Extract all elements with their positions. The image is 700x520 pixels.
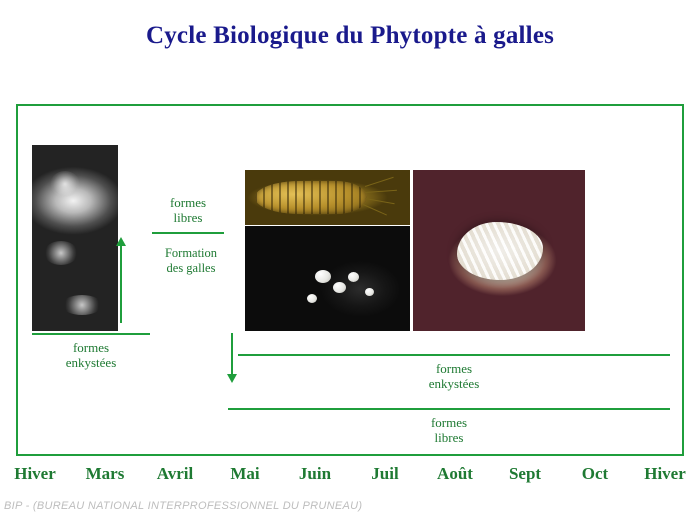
rule-formes-enkystees-right: [238, 354, 670, 356]
rule-formes-libres-top: [152, 232, 224, 234]
mite-body: [255, 181, 367, 214]
month-oct: Oct: [560, 464, 630, 484]
rule-formes-libres-bottom: [228, 408, 670, 410]
month-mai: Mai: [210, 464, 280, 484]
slide: Cycle Biologique du Phytopte à galles fo…: [0, 0, 700, 520]
rule-formes-enkystees-left: [32, 333, 150, 335]
month-juin: Juin: [280, 464, 350, 484]
footer-credit: BIP - (BUREAU NATIONAL INTERPROFESSIONNE…: [4, 500, 694, 512]
arrow-up-shaft: [120, 245, 122, 323]
mite-cluster: [307, 294, 317, 303]
page-title: Cycle Biologique du Phytopte à galles: [0, 22, 700, 50]
photo-gall-cross-section: [413, 170, 585, 331]
mite-cluster: [333, 282, 346, 293]
arrow-up-head: [116, 237, 126, 246]
photo-highlight: [50, 171, 80, 197]
month-aout: Août: [420, 464, 490, 484]
month-avril: Avril: [140, 464, 210, 484]
mite-leg: [365, 198, 395, 204]
month-juil: Juil: [350, 464, 420, 484]
photo-highlight: [44, 241, 78, 265]
mite-cluster: [315, 270, 331, 283]
month-hiver-start: Hiver: [0, 464, 70, 484]
label-formes-libres-top: formes libres: [150, 195, 226, 225]
month-sept: Sept: [490, 464, 560, 484]
mite-leg: [365, 177, 394, 187]
arrow-down-shaft: [231, 333, 233, 375]
photo-galls-with-mites: [245, 226, 410, 331]
month-mars: Mars: [70, 464, 140, 484]
mite-cluster: [348, 272, 359, 282]
arrow-down-head: [227, 374, 237, 383]
gall-interior: [457, 222, 543, 280]
mite-cluster: [365, 288, 374, 296]
timeline-months: Hiver Mars Avril Mai Juin Juil Août Sept…: [0, 464, 700, 484]
label-formes-libres-bottom: formes libres: [228, 415, 670, 445]
photo-highlight: [62, 295, 102, 315]
label-formes-enkystees-right: formes enkystées: [238, 361, 670, 391]
label-formes-enkystees-left: formes enkystées: [32, 340, 150, 370]
photo-bud-encysted-forms: [32, 145, 118, 331]
mite-leg: [365, 190, 397, 193]
month-hiver-end: Hiver: [630, 464, 700, 484]
mite-leg: [363, 204, 387, 215]
photo-mite-micrograph: [245, 170, 410, 225]
label-formation-des-galles: Formation des galles: [148, 246, 234, 276]
